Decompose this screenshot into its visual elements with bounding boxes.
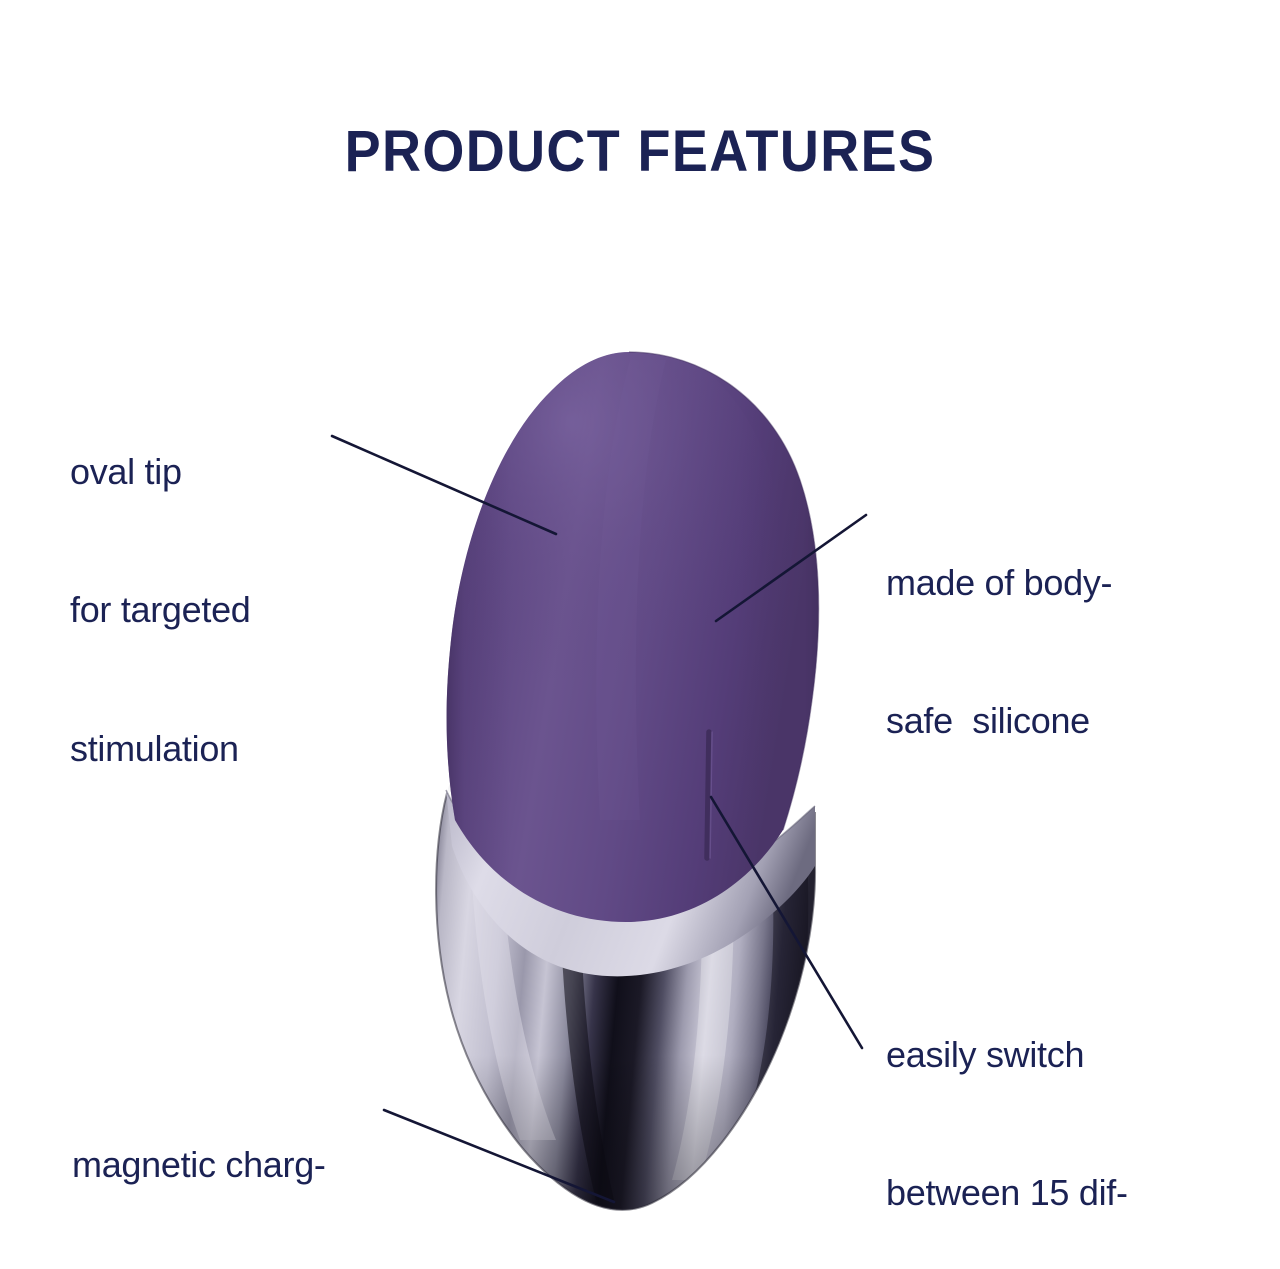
callout-body-safe-line-2: safe silicone: [886, 698, 1112, 744]
callout-vibration-line-1: easily switch: [886, 1032, 1128, 1078]
callout-vibration-line-2: between 15 dif-: [886, 1170, 1128, 1216]
callout-body-safe-line-1: made of body-: [886, 560, 1112, 606]
product-features-infographic: PRODUCT FEATURES: [0, 0, 1280, 1269]
callout-oval-tip-line-3: stimulation: [70, 726, 251, 772]
callout-magnetic-line-1: magnetic charg-: [72, 1142, 326, 1188]
product-body: [420, 330, 830, 940]
callout-oval-tip-line-2: for targeted: [70, 587, 251, 633]
callout-vibration-settings: easily switch between 15 dif- ferent vib…: [886, 940, 1128, 1269]
callout-body-safe-silicone: made of body- safe silicone: [886, 468, 1112, 837]
callout-oval-tip: oval tip for targeted stimulation: [70, 357, 251, 864]
callout-magnetic-charging: magnetic charg- ing connection: [72, 1050, 326, 1269]
callout-oval-tip-line-1: oval tip: [70, 449, 251, 495]
